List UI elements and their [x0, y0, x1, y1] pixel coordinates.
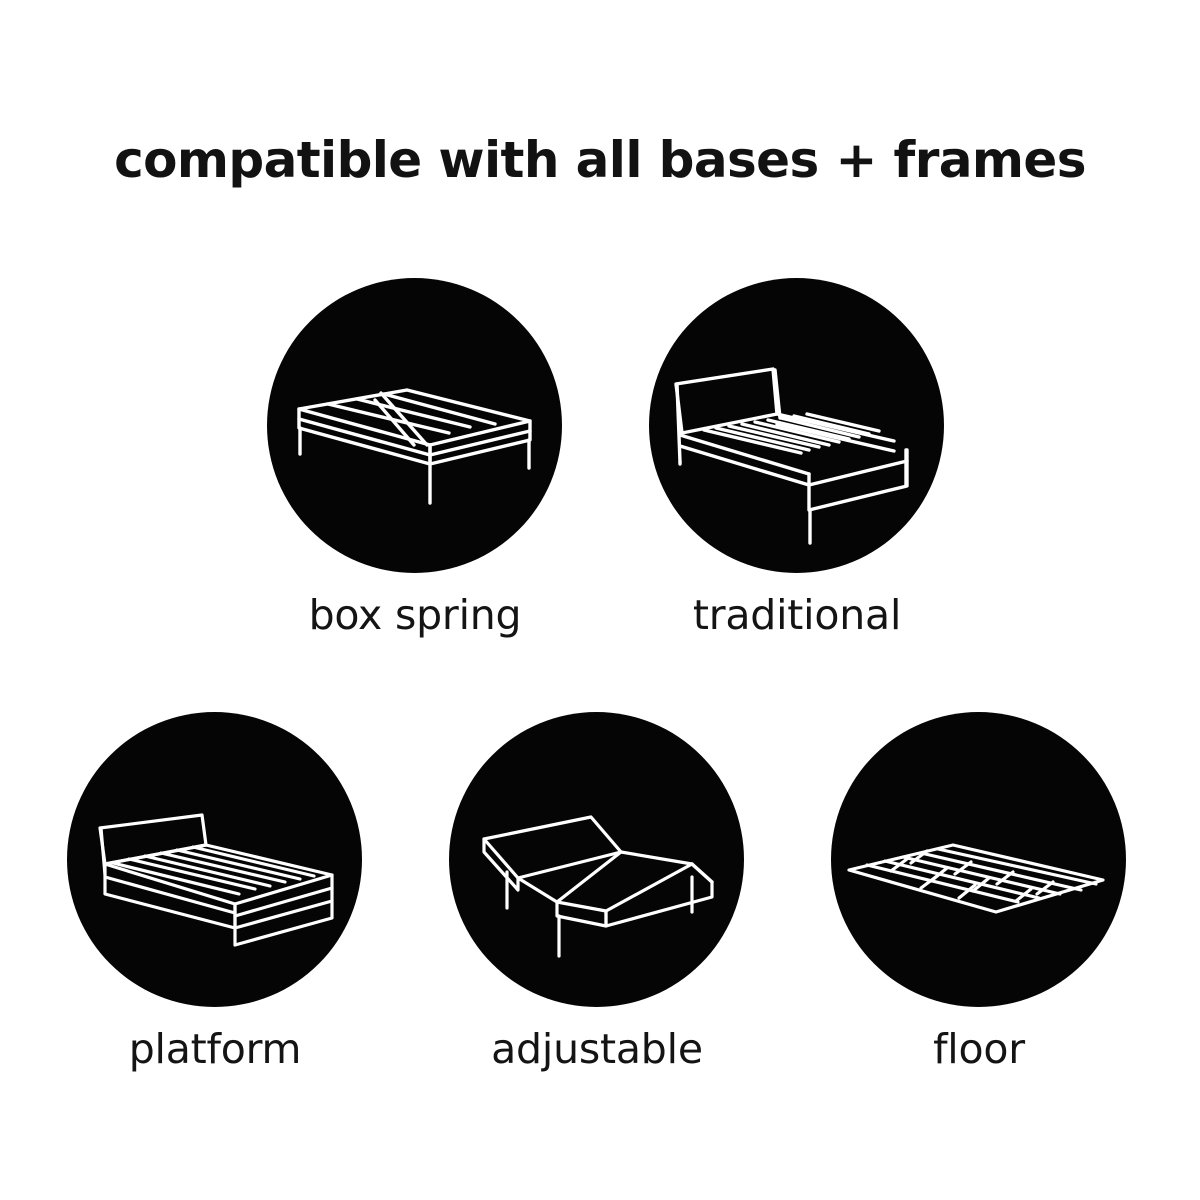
box-spring-icon: [267, 278, 562, 573]
item-label-traditional: traditional: [649, 595, 945, 636]
platform-bed-icon: [67, 712, 362, 1007]
item-traditional[interactable]: traditional: [649, 278, 945, 636]
item-platform[interactable]: platform: [67, 712, 363, 1070]
floor-circle: [831, 712, 1126, 1007]
platform-circle: [67, 712, 362, 1007]
compatibility-graphic: compatible with all bases + frames: [0, 0, 1200, 1200]
adjustable-base-icon: [449, 712, 744, 1007]
box-spring-circle: [267, 278, 562, 573]
item-adjustable[interactable]: adjustable: [449, 712, 745, 1070]
item-label-floor: floor: [831, 1029, 1127, 1070]
item-box-spring[interactable]: box spring: [267, 278, 563, 636]
item-label-adjustable: adjustable: [449, 1029, 745, 1070]
page-title: compatible with all bases + frames: [0, 131, 1200, 189]
traditional-bed-icon: [649, 278, 944, 573]
item-floor[interactable]: floor: [831, 712, 1127, 1070]
item-label-box-spring: box spring: [267, 595, 563, 636]
adjustable-circle: [449, 712, 744, 1007]
traditional-circle: [649, 278, 944, 573]
item-label-platform: platform: [67, 1029, 363, 1070]
floor-icon: [831, 712, 1126, 1007]
